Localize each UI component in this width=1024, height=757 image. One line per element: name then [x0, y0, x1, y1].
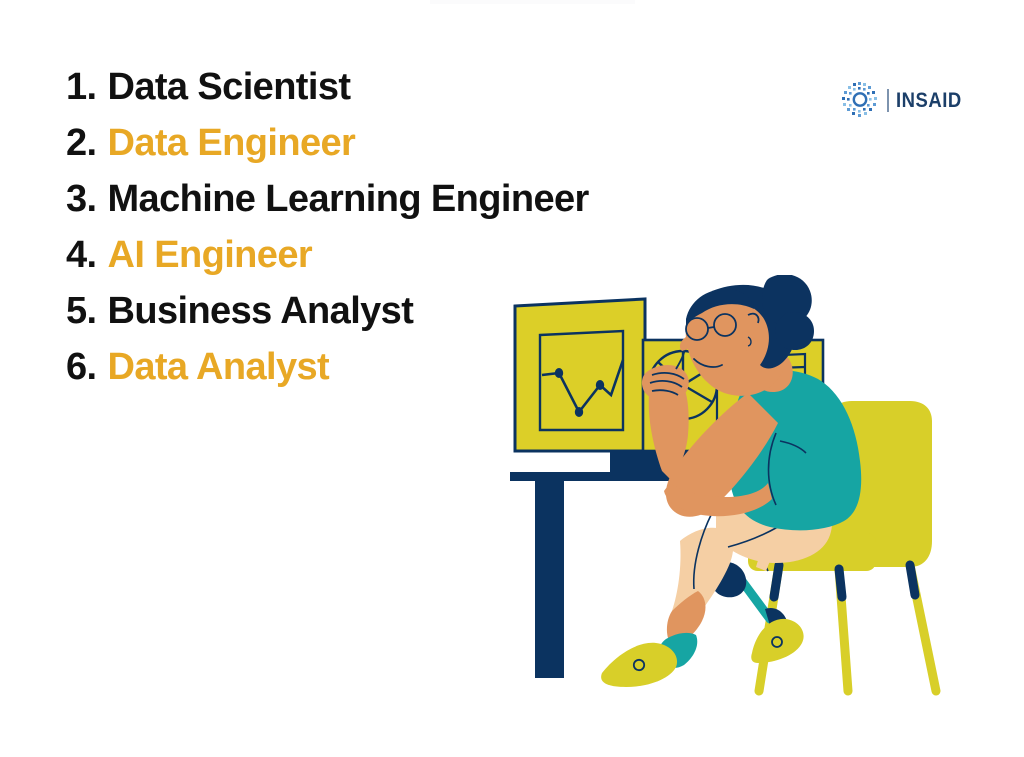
list-item-number: 2.: [66, 124, 97, 162]
list-item[interactable]: 5. Business Analyst: [66, 292, 536, 348]
list-item-label: AI Engineer: [108, 236, 313, 274]
list-item-label: Business Analyst: [108, 292, 414, 330]
list-item-number: 3.: [66, 180, 97, 218]
insaid-logo[interactable]: INSAID: [840, 80, 971, 120]
list-item-number: 5.: [66, 292, 97, 330]
list-item[interactable]: 4. AI Engineer: [66, 236, 536, 292]
brand-wordmark: INSAID: [896, 90, 962, 111]
list-item[interactable]: 2. Data Engineer: [66, 124, 536, 180]
left-monitor: [515, 299, 645, 473]
list-item-label: Data Engineer: [108, 124, 356, 162]
list-item-number: 1.: [66, 68, 97, 106]
list-item-label: Data Scientist: [108, 68, 351, 106]
list-item-label: Data Analyst: [108, 348, 330, 386]
list-item-label: Machine Learning Engineer: [108, 180, 589, 218]
list-item[interactable]: 3. Machine Learning Engineer: [66, 180, 536, 236]
roles-list: 1. Data Scientist 2. Data Engineer 3. Ma…: [66, 68, 536, 404]
list-item-number: 4.: [66, 236, 97, 274]
slide-canvas: INSAID 1. Data Scientist 2. Data Enginee…: [0, 0, 1024, 757]
analyst-at-desk-illustration: [480, 275, 970, 700]
list-item[interactable]: 1. Data Scientist: [66, 68, 536, 124]
insaid-dotted-ring-logo-icon: [840, 80, 880, 120]
logo-divider: [887, 89, 889, 112]
slide-top-edge-artifact: [430, 0, 635, 4]
list-item-number: 6.: [66, 348, 97, 386]
list-item[interactable]: 6. Data Analyst: [66, 348, 536, 404]
